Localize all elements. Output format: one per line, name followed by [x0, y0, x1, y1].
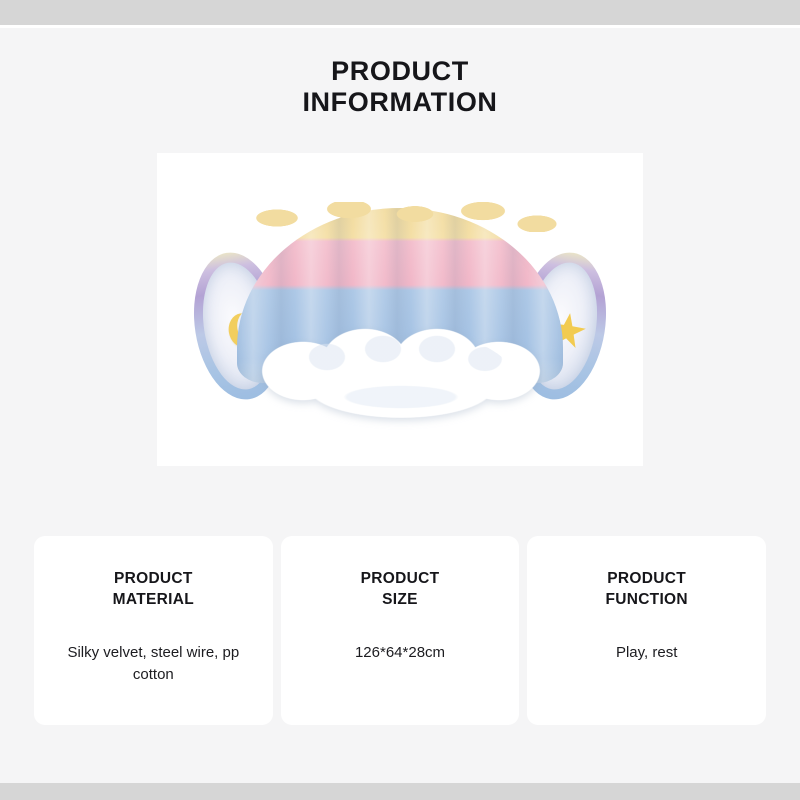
- card-product-size: PRODUCT SIZE 126*64*28cm: [281, 536, 520, 725]
- top-chrome-band: [0, 0, 800, 25]
- card-heading-line-1: PRODUCT: [361, 568, 440, 589]
- card-heading: PRODUCT MATERIAL: [113, 568, 194, 610]
- bottom-chrome-band: [0, 783, 800, 800]
- card-heading: PRODUCT FUNCTION: [605, 568, 687, 610]
- card-product-material: PRODUCT MATERIAL Silky velvet, steel wir…: [34, 536, 273, 725]
- page-title: PRODUCT INFORMATION: [0, 56, 800, 118]
- cushion-quilting: [287, 331, 515, 413]
- card-heading-line-2: FUNCTION: [605, 589, 687, 610]
- cloud-cushion: [261, 321, 541, 426]
- page-title-line-1: PRODUCT: [0, 56, 800, 87]
- card-product-function: PRODUCT FUNCTION Play, rest: [527, 536, 766, 725]
- card-heading-line-2: SIZE: [361, 589, 440, 610]
- tunnel-crest: [237, 202, 563, 232]
- card-body-text: Play, rest: [616, 642, 677, 664]
- card-heading-line-2: MATERIAL: [113, 589, 194, 610]
- card-heading: PRODUCT SIZE: [361, 568, 440, 610]
- info-card-row: PRODUCT MATERIAL Silky velvet, steel wir…: [34, 536, 766, 725]
- card-heading-line-1: PRODUCT: [113, 568, 194, 589]
- product-photo: [157, 153, 643, 466]
- product-image-panel: [157, 153, 643, 466]
- card-body-text: Silky velvet, steel wire, pp cotton: [52, 642, 255, 686]
- page-title-line-2: INFORMATION: [0, 87, 800, 118]
- page-content: PRODUCT INFORMATION: [0, 28, 800, 783]
- card-body-text: 126*64*28cm: [355, 642, 445, 664]
- card-heading-line-1: PRODUCT: [605, 568, 687, 589]
